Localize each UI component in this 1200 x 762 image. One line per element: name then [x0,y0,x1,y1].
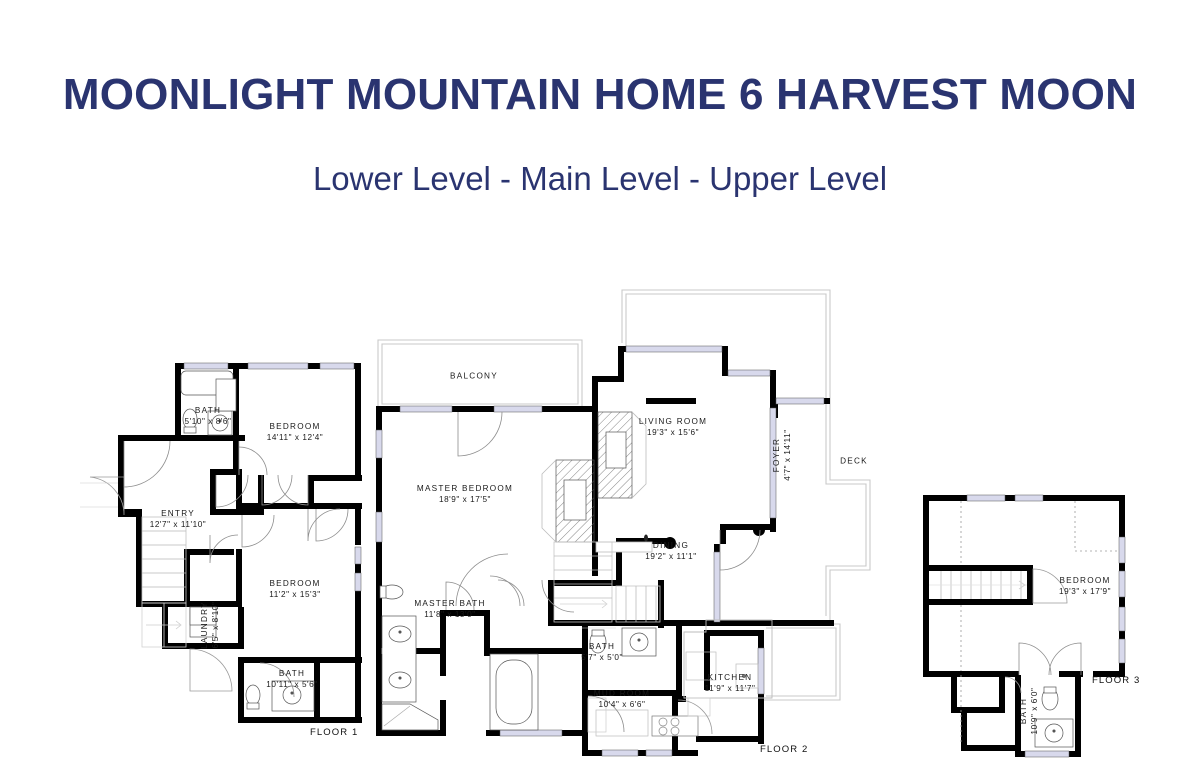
wall-group [923,495,1125,757]
floor-tag-3: FLOOR 3 [1092,675,1140,686]
floor-plan-main-level: BALCONY MASTER BEDROOM 18'9" x 17'5" LIV… [370,280,890,762]
floor-2-drawing [370,280,890,762]
floor-plan-lower-level: BATH 5'10" x 8'6" BEDROOM 14'11" x 12'4"… [80,335,400,755]
stair-run [929,571,1027,599]
floor-plan-upper-level: BEDROOM 19'3" x 17'9" BATH 10'9" x 6'0" … [915,487,1185,762]
wall-group [118,363,362,723]
header: MOONLIGHT MOUNTAIN HOME 6 HARVEST MOON L… [0,0,1200,198]
floor-tag-2: FLOOR 2 [760,744,808,755]
floor-1-drawing [80,335,400,755]
page-title: MOONLIGHT MOUNTAIN HOME 6 HARVEST MOON [0,0,1200,118]
fixture-group [1035,687,1073,747]
window-group [967,495,1125,757]
fixture-group [380,585,772,736]
floor-tag-1: FLOOR 1 [310,727,358,738]
floor-plans-stage: BATH 5'10" x 8'6" BEDROOM 14'11" x 12'4"… [0,255,1200,762]
stair-run [142,517,186,647]
floor-3-drawing [915,487,1185,762]
page-subtitle: Lower Level - Main Level - Upper Level [0,118,1200,198]
